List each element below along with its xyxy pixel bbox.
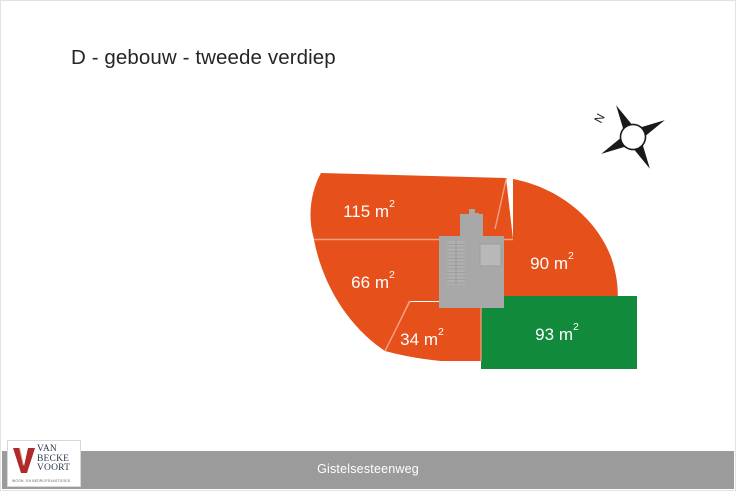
area-label-90: 90 m2: [530, 250, 574, 273]
area-label-34: 34 m2: [400, 326, 444, 349]
company-logo[interactable]: VAN BECKE VOORT WOON- EN BEDRIJFSVASTGOE…: [7, 440, 81, 487]
footer-bar: Gistelsesteenweg: [2, 451, 734, 489]
logo-line-3: VOORT: [37, 464, 70, 474]
shaft-icon: [480, 244, 501, 266]
floor-plan-drawing: 115 m2 66 m2 34 m2 90 m2 93 m2: [1, 1, 736, 491]
compass-north-label: N: [591, 111, 607, 125]
logo-wordmark: VAN BECKE VOORT: [37, 445, 70, 474]
footer-caption: Gistelsesteenweg: [2, 462, 734, 476]
area-label-66: 66 m2: [351, 269, 395, 292]
area-label-115: 115 m2: [343, 198, 395, 221]
slide-canvas: D - gebouw - tweede verdiep: [0, 0, 736, 491]
stair-core-icon: [447, 241, 465, 285]
compass-rose: N: [587, 99, 671, 171]
logo-tagline: WOON- EN BEDRIJFSVASTGOED: [12, 478, 70, 483]
building-upper-wing: [460, 214, 483, 239]
compass-star-icon: [587, 99, 671, 171]
area-label-93: 93 m2: [535, 321, 579, 344]
building-chimney: [469, 209, 475, 216]
logo-v-icon: [12, 446, 36, 474]
